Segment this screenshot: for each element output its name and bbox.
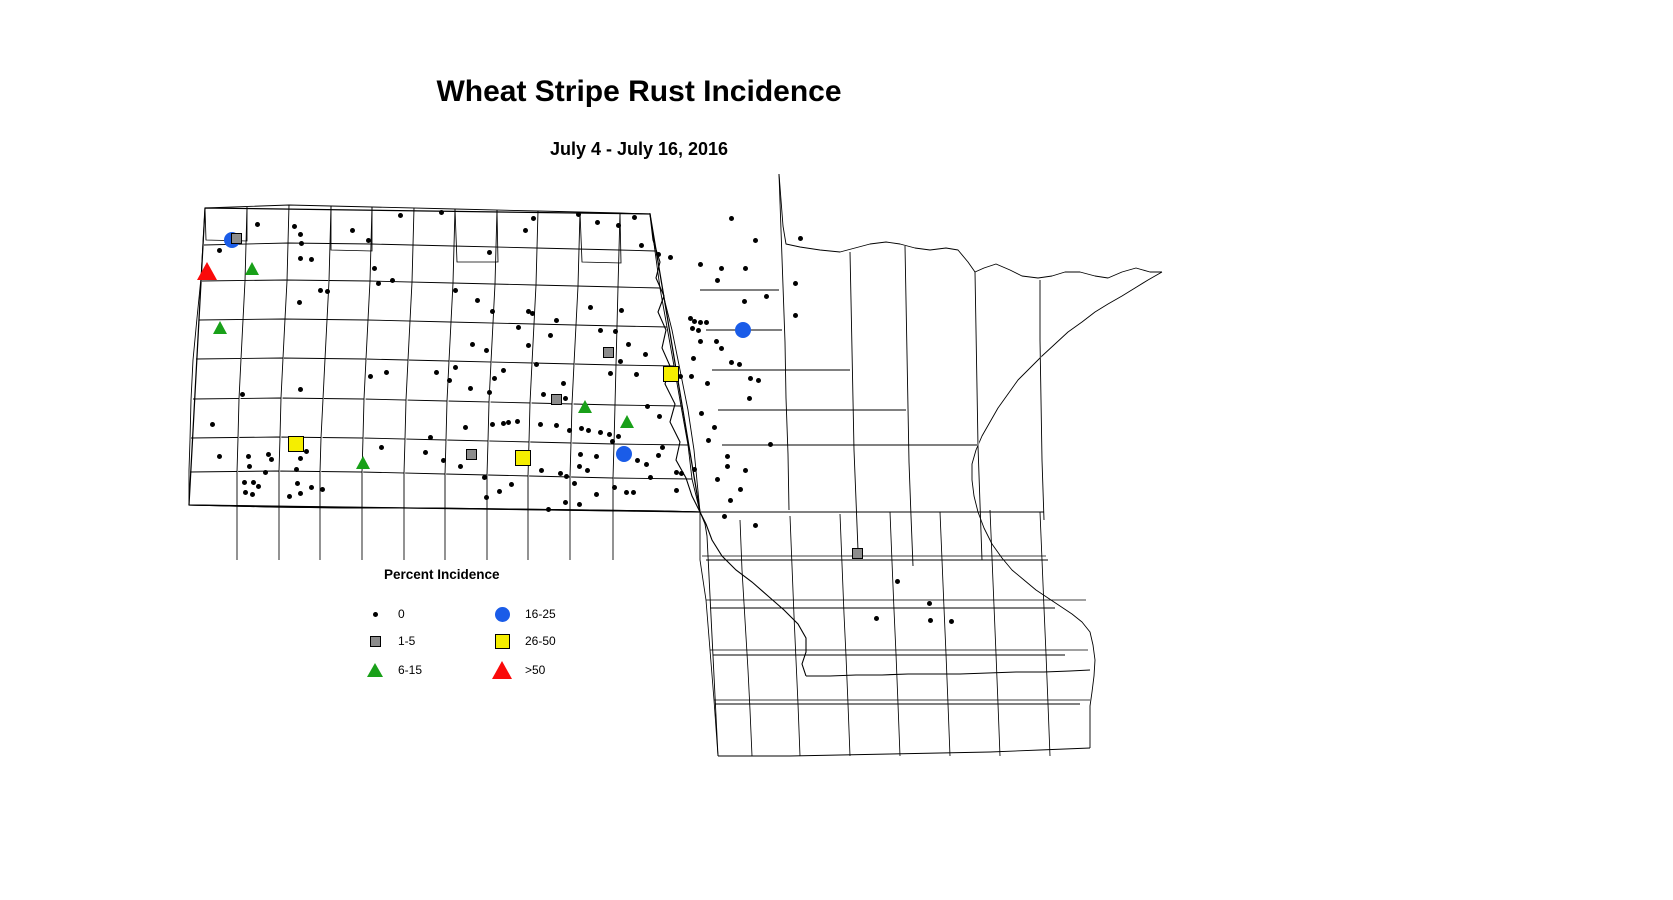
legend-title: Percent Incidence — [384, 567, 500, 582]
gray-square-icon — [362, 632, 388, 650]
legend-item-6-15[interactable]: 6-15 — [362, 661, 422, 679]
legend-label: 1-5 — [398, 634, 415, 648]
legend-item-1-5[interactable]: 1-5 — [362, 632, 415, 650]
green-triangle-icon — [362, 661, 388, 679]
north-dakota-counties — [189, 205, 700, 512]
states-counties-svg — [0, 0, 1673, 900]
legend-label: 26-50 — [525, 634, 556, 648]
legend-item-16-25[interactable]: 16-25 — [489, 605, 556, 623]
blue-circle-icon — [489, 605, 515, 623]
legend-label: 0 — [398, 607, 405, 621]
red-triangle-icon — [489, 661, 515, 679]
map-canvas — [0, 0, 1673, 900]
map-figure: Wheat Stripe Rust Incidence July 4 - Jul… — [0, 0, 1673, 900]
legend-label: 6-15 — [398, 663, 422, 677]
legend-item-gt-50[interactable]: >50 — [489, 661, 545, 679]
legend-item-0[interactable]: 0 — [362, 605, 405, 623]
dot-icon — [362, 605, 388, 623]
yellow-square-icon — [489, 632, 515, 650]
south-dakota-grid — [189, 505, 700, 512]
legend-label: >50 — [525, 663, 545, 677]
legend-label: 16-25 — [525, 607, 556, 621]
minnesota-counties — [700, 174, 1162, 756]
legend-item-26-50[interactable]: 26-50 — [489, 632, 556, 650]
